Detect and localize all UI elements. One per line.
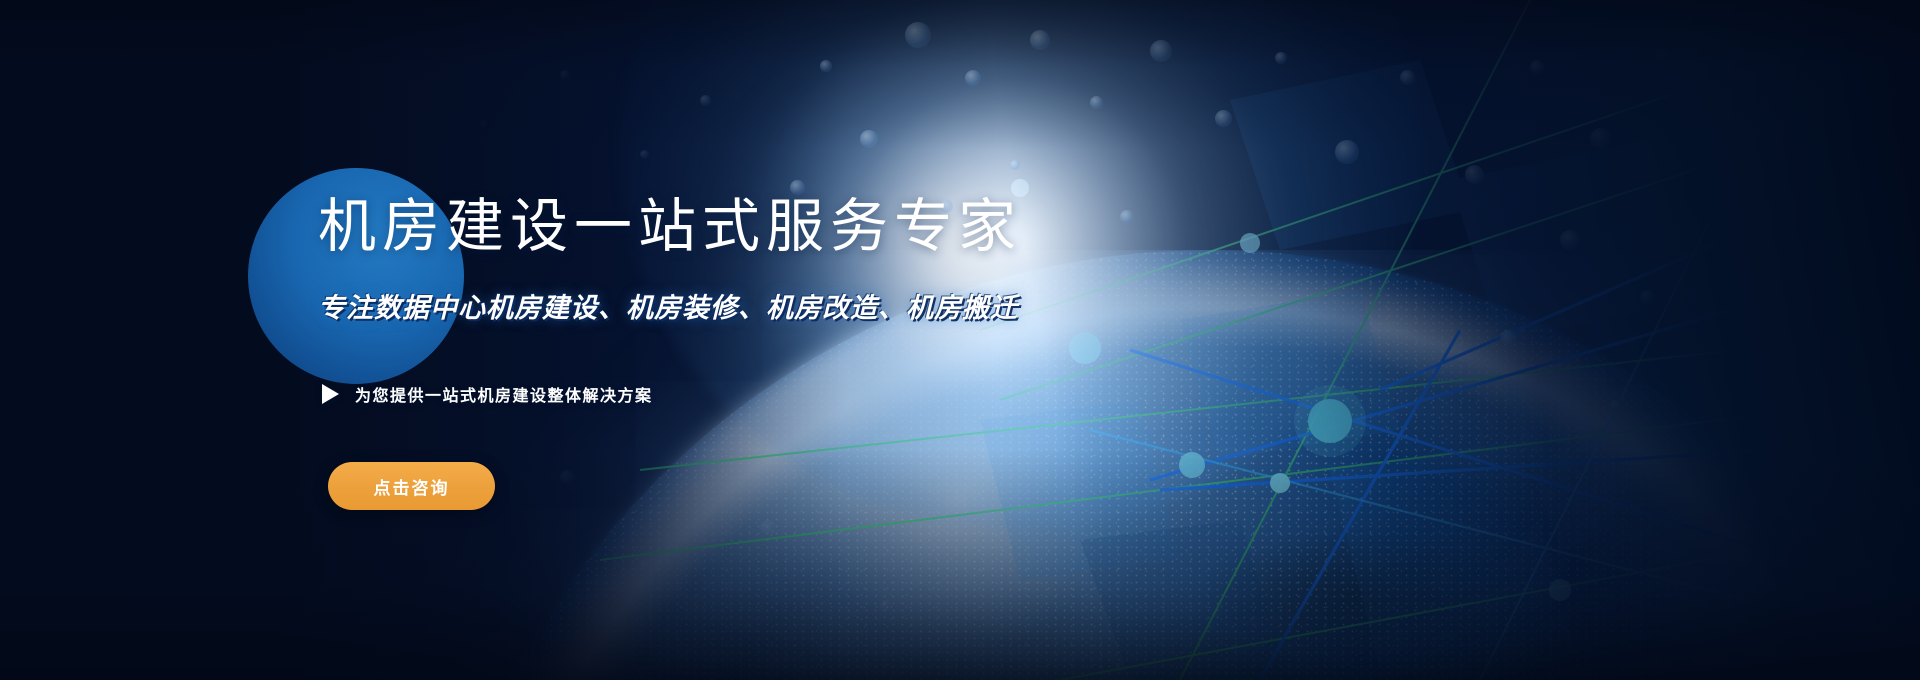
hero-banner: 机房建设一站式服务专家 专注数据中心机房建设、机房装修、机房改造、机房搬迁 为您… [0, 0, 1920, 680]
play-triangle-icon [322, 384, 339, 404]
page-subtitle: 专注数据中心机房建设、机房装修、机房改造、机房搬迁 [318, 286, 1018, 325]
tagline: 为您提供一站式机房建设整体解决方案 [322, 382, 653, 406]
tagline-text: 为您提供一站式机房建设整体解决方案 [355, 382, 653, 406]
hero-content: 机房建设一站式服务专家 专注数据中心机房建设、机房装修、机房改造、机房搬迁 为您… [0, 0, 1920, 680]
consult-button[interactable]: 点击咨询 [328, 462, 495, 510]
page-title: 机房建设一站式服务专家 [318, 196, 1022, 259]
